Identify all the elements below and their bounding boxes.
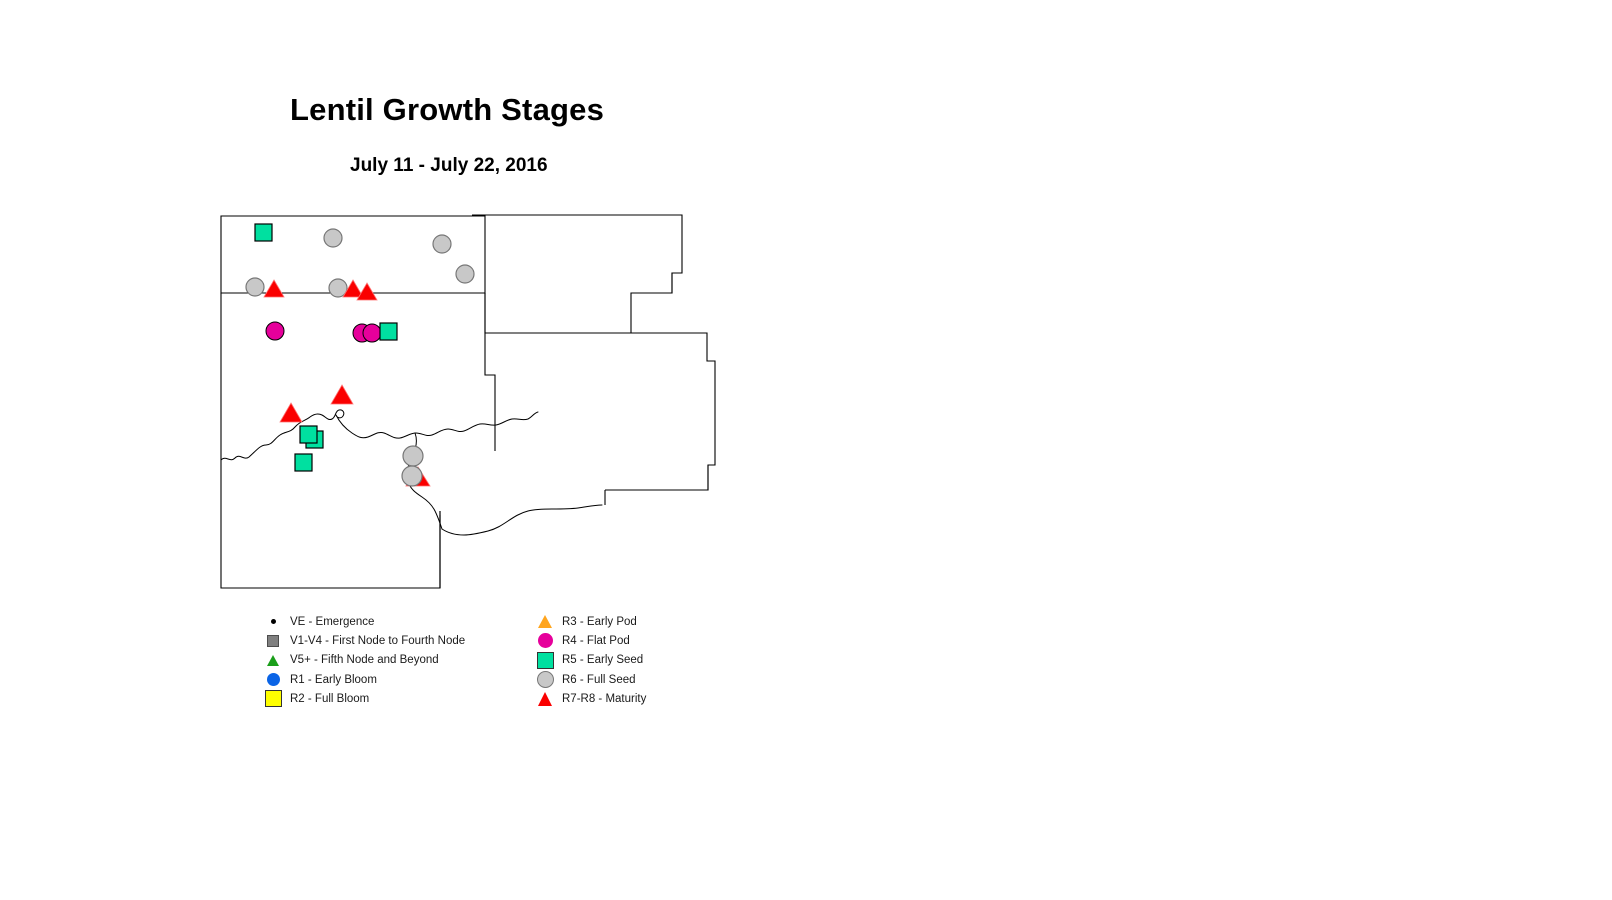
boundary-lower-right-top <box>605 465 708 490</box>
marker-r6-full-seed <box>246 278 264 296</box>
legend-label-r1: R1 - Early Bloom <box>290 674 377 686</box>
river-path-main <box>221 410 538 460</box>
legend-label-r6: R6 - Full Seed <box>562 674 636 686</box>
square-marker-icon <box>534 652 556 669</box>
legend-column-left: VE - Emergence V1-V4 - First Node to Fou… <box>262 612 465 708</box>
boundary-sw-outer <box>221 293 440 588</box>
triangle-marker-icon <box>262 655 284 666</box>
marker-r5-early-seed <box>300 426 317 443</box>
boundary-interior-vert <box>485 333 495 451</box>
triangle-marker-icon <box>534 692 556 706</box>
page-title: Lentil Growth Stages <box>290 92 604 128</box>
data-markers <box>246 224 474 486</box>
marker-r5-early-seed <box>295 454 312 471</box>
legend-label-v1-v4: V1-V4 - First Node to Fourth Node <box>290 635 465 647</box>
boundary-east-band <box>485 333 715 490</box>
legend-label-r2: R2 - Full Bloom <box>290 693 369 705</box>
legend-item-r1[interactable]: R1 - Early Bloom <box>262 670 465 689</box>
map-canvas <box>210 205 740 605</box>
legend: VE - Emergence V1-V4 - First Node to Fou… <box>262 612 682 717</box>
triangle-marker-icon <box>534 615 556 628</box>
boundary-se-helper <box>430 500 530 510</box>
legend-item-v1-v4[interactable]: V1-V4 - First Node to Fourth Node <box>262 631 465 650</box>
legend-item-v5-plus[interactable]: V5+ - Fifth Node and Beyond <box>262 651 465 670</box>
legend-column-right: R3 - Early Pod R4 - Flat Pod R5 - Early … <box>534 612 646 708</box>
marker-r7-r8-maturity <box>264 280 284 297</box>
marker-r4-flat-pod <box>266 322 284 340</box>
marker-r5-early-seed <box>380 323 397 340</box>
circle-marker-icon <box>534 671 556 688</box>
page-subtitle: July 11 - July 22, 2016 <box>350 155 548 177</box>
marker-r6-full-seed <box>324 229 342 247</box>
boundary-ne-top <box>472 215 682 333</box>
legend-label-ve: VE - Emergence <box>290 616 374 628</box>
square-marker-icon <box>262 635 284 647</box>
dot-marker-icon <box>262 619 284 624</box>
marker-r7-r8-maturity <box>280 403 302 422</box>
marker-r6-full-seed <box>403 446 423 466</box>
boundary-ne-step <box>631 273 682 293</box>
legend-label-v5-plus: V5+ - Fifth Node and Beyond <box>290 654 439 666</box>
lentil-growth-stages-map-figure: Lentil Growth Stages July 11 - July 22, … <box>0 0 1612 900</box>
legend-item-r2[interactable]: R2 - Full Bloom <box>262 689 465 708</box>
legend-item-r7-r8[interactable]: R7-R8 - Maturity <box>534 689 646 708</box>
river-path-south <box>442 505 602 535</box>
marker-r5-early-seed <box>255 224 272 241</box>
marker-r6-full-seed <box>402 466 422 486</box>
marker-r7-r8-maturity <box>331 385 353 404</box>
legend-label-r7-r8: R7-R8 - Maturity <box>562 693 646 705</box>
map-svg <box>210 205 740 605</box>
legend-label-r3: R3 - Early Pod <box>562 616 637 628</box>
marker-r6-full-seed <box>433 235 451 253</box>
legend-item-ve[interactable]: VE - Emergence <box>262 612 465 631</box>
legend-item-r5[interactable]: R5 - Early Seed <box>534 651 646 670</box>
legend-label-r4: R4 - Flat Pod <box>562 635 630 647</box>
marker-r4-flat-pod <box>363 324 381 342</box>
circle-marker-icon <box>262 673 284 686</box>
legend-item-r3[interactable]: R3 - Early Pod <box>534 612 646 631</box>
marker-r6-full-seed <box>456 265 474 283</box>
circle-marker-icon <box>534 633 556 648</box>
legend-item-r6[interactable]: R6 - Full Seed <box>534 670 646 689</box>
legend-label-r5: R5 - Early Seed <box>562 654 643 666</box>
square-marker-icon <box>262 690 284 707</box>
legend-item-r4[interactable]: R4 - Flat Pod <box>534 631 646 650</box>
